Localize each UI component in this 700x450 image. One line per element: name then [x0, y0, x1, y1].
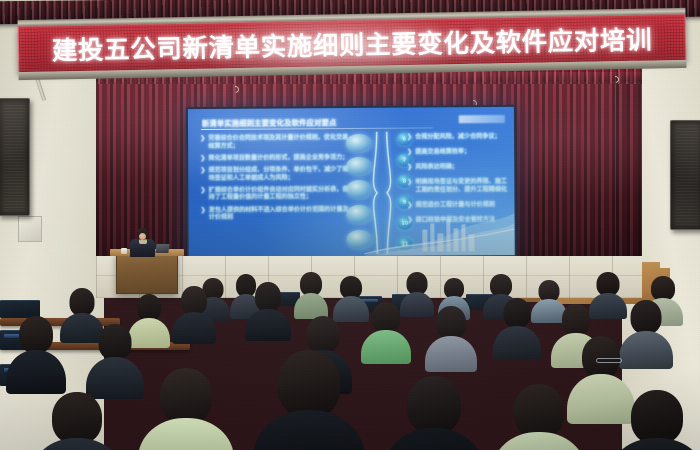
- head: [631, 300, 662, 334]
- list-item-label: 规范造价工程计量与计价规则: [416, 201, 512, 209]
- list-item-label: 扩展综合单价计价组件自动对应同时据实分析表，保持了工程量价值的计量工程的独立性；: [209, 186, 352, 202]
- slide-corner-logo: [459, 115, 505, 123]
- audience-member: [396, 376, 472, 450]
- shoulders: [138, 418, 234, 450]
- head: [504, 298, 531, 328]
- audience-member: [620, 390, 694, 450]
- shoulders: [6, 350, 66, 394]
- event-banner: 建投五公司新清单实施细则主要变化及软件应对培训: [18, 14, 687, 73]
- audience-area: [0, 272, 700, 450]
- bullet-arrow-icon: ❯: [407, 201, 412, 209]
- head: [514, 384, 564, 438]
- shoulders: [493, 326, 541, 360]
- audience-member: [92, 324, 138, 396]
- shoulders: [609, 438, 700, 450]
- list-item: ❯ 风险表达明确；: [407, 163, 511, 171]
- presentation-slide: 新清单实施细则主要变化及软件应对要点 ❯ 完善综合价合同技术项及其计量计价规则，…: [188, 107, 515, 257]
- audience-member: [402, 272, 432, 314]
- audience-member: [624, 300, 668, 364]
- audience-member: [336, 276, 366, 318]
- shoulders: [384, 428, 484, 450]
- slide-title-underline: [201, 127, 433, 130]
- list-item: ❯ 扩展综合单价计价组件自动对应同时据实分析表，保持了工程量价值的计量工程的独立…: [200, 186, 352, 202]
- head: [99, 324, 132, 360]
- head: [582, 336, 620, 378]
- list-item-label: 简化清单项目数量计价的形式，提高企业竞争活力；: [208, 154, 351, 163]
- list-item-label: 提高交易结算效率；: [415, 148, 511, 156]
- bullet-arrow-icon: ❯: [407, 179, 412, 194]
- list-item-label: 规范项目划分组成、分项条件、单价包干，减少了现场签证和人工单据成人为风险；: [209, 166, 352, 182]
- head: [436, 306, 466, 339]
- list-item: ❯ 提高交易结算效率；: [407, 148, 511, 156]
- head: [372, 302, 400, 333]
- list-item: ❯ 简化清单项目数量计价的形式，提高企业竞争活力；: [200, 154, 352, 163]
- bullet-arrow-icon: ❯: [200, 206, 205, 221]
- list-item: ❯ 完善综合价合同技术项及其计量计价规则，优化交易结算方式；: [200, 134, 352, 150]
- bullet-arrow-icon: ❯: [407, 216, 412, 224]
- audience-member: [12, 316, 60, 390]
- audience-member: [296, 272, 326, 316]
- audience-member: [592, 272, 624, 316]
- head: [307, 316, 340, 353]
- list-item-label: 发包人提供的材料不进入综合单价计价范围的计量及计价规则: [209, 206, 352, 222]
- bullet-arrow-icon: ❯: [200, 155, 205, 163]
- slide-funnel-diagram: 6 7 8 9 10 11: [346, 132, 415, 254]
- head: [631, 390, 683, 444]
- bullet-arrow-icon: ❯: [200, 167, 205, 182]
- list-item-label: 合规分配风险，减少合同争议；: [415, 133, 511, 141]
- wall-speaker-left: [0, 98, 30, 216]
- list-item: ❯ 接口校验申报及安全管控方法: [407, 216, 511, 224]
- head: [562, 304, 590, 335]
- banner-title-text: 建投五公司新清单实施细则主要变化及软件应对培训: [52, 20, 653, 68]
- bullet-arrow-icon: ❯: [407, 149, 412, 157]
- audience-member: [430, 306, 472, 368]
- bullet-arrow-icon: ❯: [200, 187, 205, 202]
- audience-member: [266, 350, 352, 450]
- list-item: ❯ 明确现场签证与变更的界限、施工工期的责任划分、提升工程精细化: [407, 178, 511, 194]
- head: [407, 376, 461, 434]
- audience-member: [42, 392, 112, 450]
- audience-member: [504, 384, 574, 450]
- audience-member: [150, 368, 222, 450]
- shoulders: [253, 410, 365, 450]
- wall-junction-box: [18, 216, 42, 242]
- list-item: ❯ 合规分配风险，减少合同争议；: [407, 133, 511, 141]
- head: [181, 286, 207, 315]
- head: [278, 350, 340, 418]
- head: [160, 368, 212, 424]
- shoulders: [245, 309, 291, 341]
- projection-screen: 新清单实施细则主要变化及软件应对要点 ❯ 完善综合价合同技术项及其计量计价规则，…: [186, 105, 517, 259]
- audience-member: [250, 282, 286, 338]
- diagram-number-dot: 11: [397, 238, 412, 251]
- list-item-label: 风险表达明确；: [415, 163, 511, 171]
- shoulders: [31, 438, 123, 450]
- laptop: [155, 244, 169, 253]
- shoulders: [425, 336, 477, 372]
- list-item-label: 接口校验申报及安全管控方法: [416, 216, 512, 224]
- auditorium-photo: 新清单实施细则主要变化及软件应对要点 ❯ 完善综合价合同技术项及其计量计价规则，…: [0, 0, 700, 450]
- head: [70, 288, 95, 316]
- shoulders: [361, 330, 411, 364]
- eyeglasses-icon: [596, 358, 622, 363]
- shoulders: [492, 432, 586, 450]
- bullet-arrow-icon: ❯: [407, 134, 412, 142]
- list-item-label: 明确现场签证与变更的界限、施工工期的责任划分、提升工程精细化: [415, 178, 511, 194]
- audience-member: [498, 298, 536, 356]
- slide-left-bullet-column: ❯ 完善综合价合同技术项及其计量计价规则，优化交易结算方式； ❯ 简化清单项目数…: [200, 134, 352, 226]
- shoulders: [172, 312, 216, 344]
- water-cup: [121, 248, 127, 254]
- audience-member: [176, 286, 212, 340]
- list-item-label: 完善综合价合同技术项及其计量计价规则，优化交易结算方式；: [208, 134, 351, 150]
- head: [52, 392, 102, 444]
- head: [19, 316, 53, 353]
- audience-member: [366, 302, 406, 360]
- bullet-arrow-icon: ❯: [200, 135, 205, 150]
- list-item: ❯ 发包人提供的材料不进入综合单价计价范围的计量及计价规则: [200, 206, 352, 222]
- list-item: ❯ 规范项目划分组成、分项条件、单价包干，减少了现场签证和人工单据成人为风险；: [200, 166, 352, 182]
- slide-right-bullet-column: ❯ 合规分配风险，减少合同争议； ❯ 提高交易结算效率； ❯ 风险表达明确； ❯…: [407, 133, 512, 231]
- presenter-face: [139, 233, 146, 240]
- head: [137, 294, 161, 321]
- list-item: ❯ 规范造价工程计量与计价规则: [407, 201, 511, 209]
- funnel-curve-graphic: [346, 132, 415, 254]
- wall-speaker-right: [670, 120, 700, 230]
- bullet-arrow-icon: ❯: [407, 164, 412, 172]
- head: [255, 282, 281, 312]
